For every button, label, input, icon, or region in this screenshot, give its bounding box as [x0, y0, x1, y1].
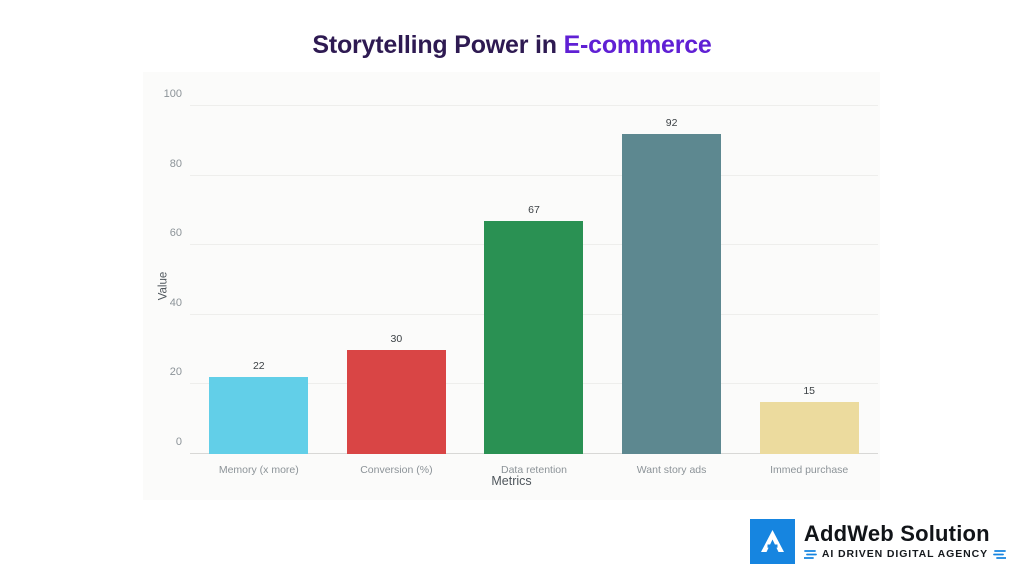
logo-tagline: AI DRIVEN DIGITAL AGENCY: [822, 549, 988, 560]
chart-panel: Value 020406080100 22Memory (x more)30Co…: [143, 72, 880, 500]
y-axis-tick-label: 60: [170, 227, 182, 239]
y-axis-tick-label: 0: [176, 436, 182, 448]
speed-lines-right-icon: [993, 549, 1006, 560]
bar[interactable]: 92Want story ads: [622, 134, 721, 454]
bar-slot: 15Immed purchase: [740, 106, 878, 454]
bar-slot: 92Want story ads: [603, 106, 741, 454]
y-axis-label: Value: [157, 272, 169, 301]
page-title-accent: E-commerce: [564, 31, 712, 59]
bar-value-label: 22: [209, 360, 308, 372]
x-axis-label: Metrics: [143, 474, 880, 488]
bar-series: 22Memory (x more)30Conversion (%)67Data …: [190, 106, 878, 454]
bar-value-label: 30: [347, 333, 446, 345]
speed-lines-left-icon: [804, 549, 817, 560]
y-axis-tick-label: 20: [170, 366, 182, 378]
y-axis-tick-label: 40: [170, 297, 182, 309]
bar[interactable]: 67Data retention: [484, 221, 583, 454]
bar-value-label: 92: [622, 117, 721, 129]
bar-slot: 30Conversion (%): [328, 106, 466, 454]
bar-value-label: 15: [760, 385, 859, 397]
bar[interactable]: 15Immed purchase: [760, 402, 859, 454]
page-title-primary: Storytelling Power in: [312, 31, 563, 59]
bar[interactable]: 22Memory (x more): [209, 377, 308, 454]
addweb-solution-logo: AddWeb Solution AI DRIVEN DIGITAL AGENCY: [750, 519, 1006, 564]
y-axis-tick-label: 100: [164, 88, 182, 100]
bar-slot: 22Memory (x more): [190, 106, 328, 454]
bar-slot: 67Data retention: [465, 106, 603, 454]
addweb-triangle-a-icon: [750, 519, 795, 564]
logo-name: AddWeb Solution: [804, 523, 1006, 545]
page-title: Storytelling Power in E-commerce: [0, 30, 1024, 60]
y-axis-tick-label: 80: [170, 158, 182, 170]
plot-area: 020406080100 22Memory (x more)30Conversi…: [190, 106, 878, 454]
bar-value-label: 67: [484, 204, 583, 216]
bar[interactable]: 30Conversion (%): [347, 350, 446, 454]
